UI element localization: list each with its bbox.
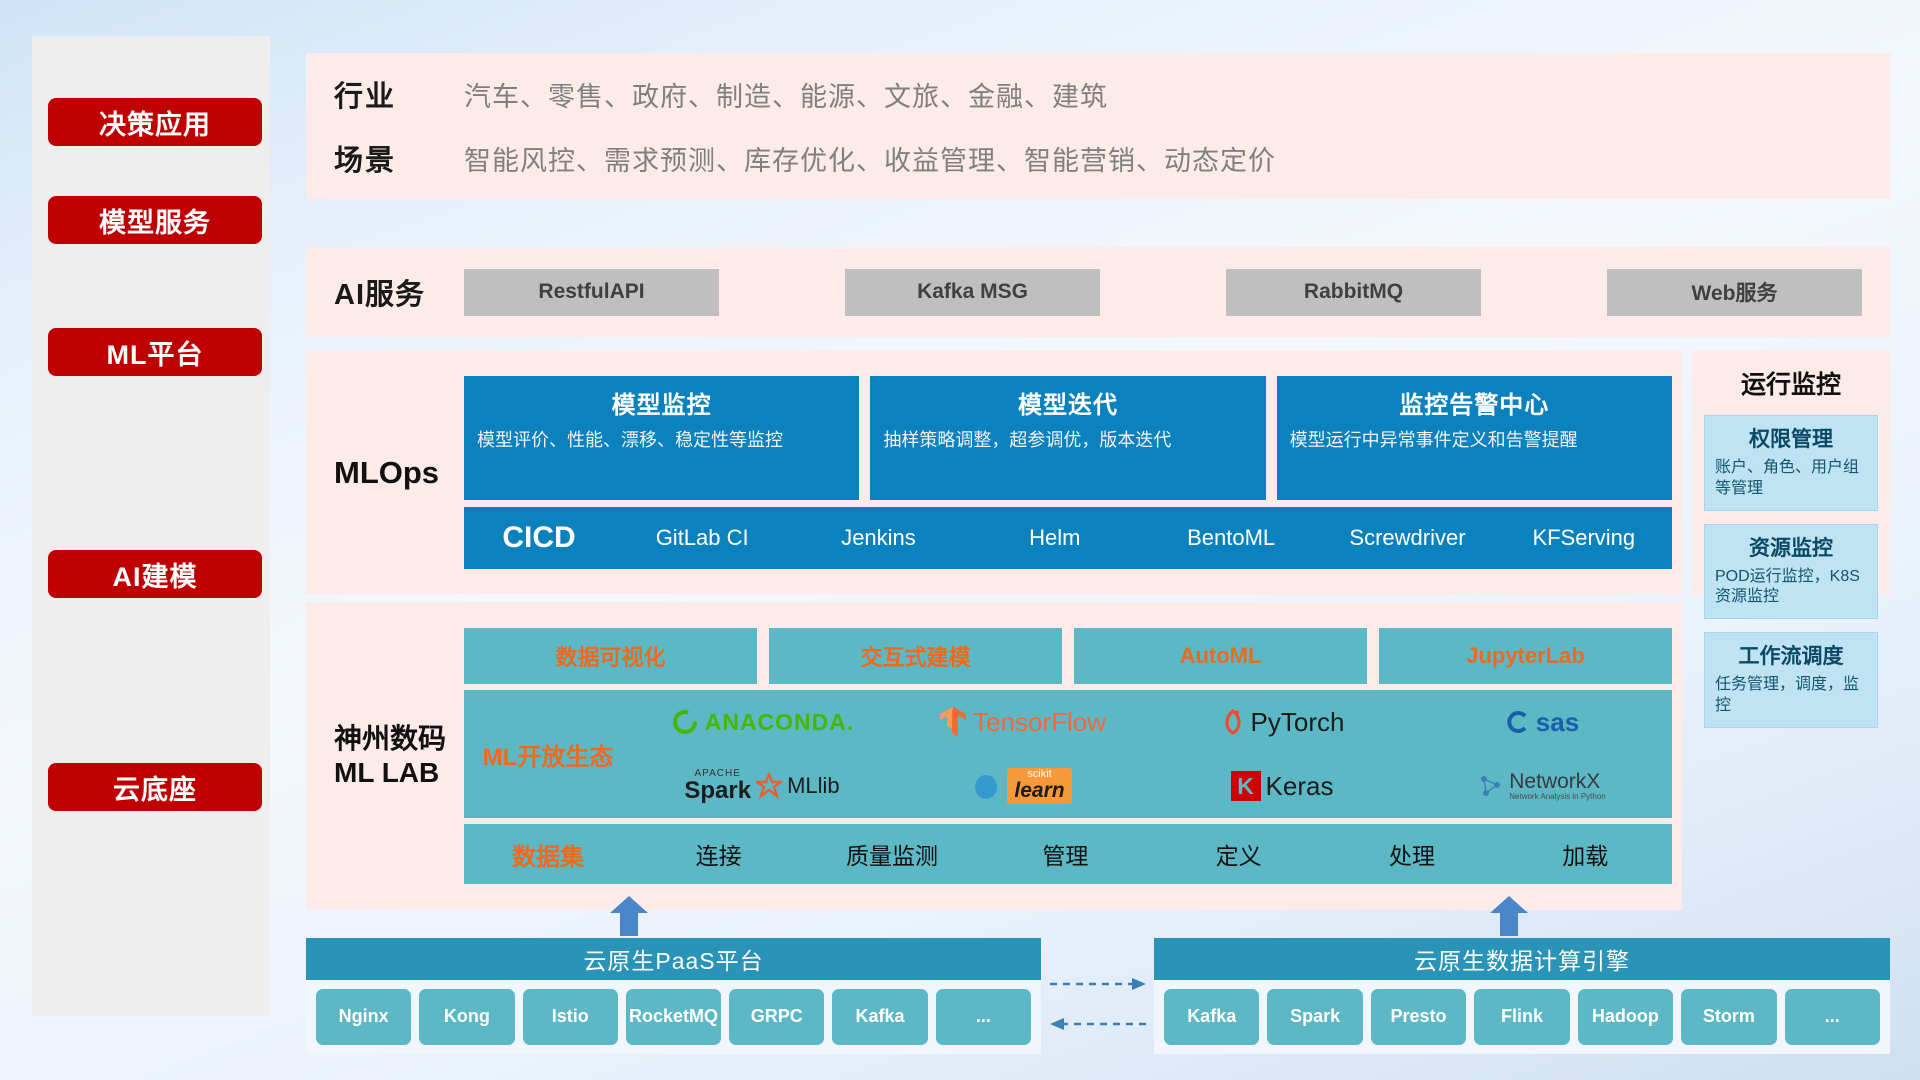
ai-service-label: AI服务: [334, 271, 464, 313]
data-chip-spark[interactable]: Spark: [1267, 989, 1362, 1045]
ai-service-chip-restfulapi[interactable]: RestfulAPI: [464, 269, 719, 316]
lab-tab-jupyterlab[interactable]: JupyterLab: [1379, 628, 1672, 684]
run-monitor-title: 运行监控: [1704, 365, 1878, 401]
chip-label: RabbitMQ: [1304, 280, 1403, 304]
dataset-item-quality[interactable]: 质量监测: [805, 837, 978, 871]
card-desc: 抽样策略调整，超参调优，版本迭代: [883, 429, 1252, 453]
ml-platform-band: MLOps 模型监控 模型评价、性能、漂移、稳定性等监控 模型迭代 抽样策略调整…: [306, 351, 1890, 594]
card-desc: 模型运行中异常事件定义和告警提醒: [1290, 429, 1659, 453]
chip-label: RestfulAPI: [538, 280, 644, 304]
scenario-label: 场景: [334, 137, 464, 179]
paas-chip-istio[interactable]: Istio: [523, 989, 618, 1045]
data-chip-flink[interactable]: Flink: [1474, 989, 1569, 1045]
dataset-item-define[interactable]: 定义: [1152, 837, 1325, 871]
lab-right-spacer: [1692, 602, 1890, 910]
paas-chip-nginx[interactable]: Nginx: [316, 989, 411, 1045]
keras-text: Keras: [1266, 771, 1334, 802]
lab-tab-automl[interactable]: AutoML: [1074, 628, 1367, 684]
mlops-label: MLOps: [334, 455, 464, 491]
anaconda-text: ANACONDA.: [705, 709, 855, 736]
card-title: 模型监控: [477, 385, 846, 420]
ml-lab-label: 神州数码 ML LAB: [334, 722, 464, 790]
cicd-item-bentoml[interactable]: BentoML: [1143, 526, 1319, 549]
scikit-blue-mark: [972, 773, 1002, 799]
mlops-card-model-monitoring[interactable]: 模型监控 模型评价、性能、漂移、稳定性等监控: [464, 376, 859, 500]
ai-modeling-band: 神州数码 ML LAB 数据可视化 交互式建模 AutoML JupyterLa…: [306, 602, 1890, 910]
paas-chip-more[interactable]: ...: [936, 989, 1031, 1045]
rail-item-ai-modeling[interactable]: AI建模: [48, 550, 262, 598]
spark-star-mark: [756, 773, 782, 799]
rail-item-ml-platform[interactable]: ML平台: [48, 328, 262, 376]
keras-k-text: K: [1237, 773, 1254, 800]
card-title: 模型迭代: [883, 385, 1252, 420]
networkx-mark: [1478, 773, 1504, 799]
lab-tab-data-visualization[interactable]: 数据可视化: [464, 628, 757, 684]
ai-service-band: AI服务 RestfulAPI Kafka MSG RabbitMQ Web服务: [306, 247, 1890, 337]
scenario-row: 场景 智能风控、需求预测、库存优化、收益管理、智能营销、动态定价: [334, 137, 1890, 179]
ai-service-chip-kafka-msg[interactable]: Kafka MSG: [845, 269, 1100, 316]
sas-mark: [1505, 709, 1531, 735]
keras-mark: K: [1231, 771, 1261, 801]
tensorflow-logo: TensorFlow: [938, 706, 1106, 739]
industry-values: 汽车、零售、政府、制造、能源、文旅、金融、建筑: [464, 75, 1108, 114]
networkx-subtitle: Network Analysis in Python: [1509, 793, 1606, 801]
chip-label: Kafka MSG: [917, 280, 1028, 304]
paas-chip-rocketmq[interactable]: RocketMQ: [626, 989, 721, 1045]
card-desc: 模型评价、性能、漂移、稳定性等监控: [477, 429, 846, 453]
ml-ecosystem-label: ML开放生态: [464, 737, 632, 772]
data-chip-presto[interactable]: Presto: [1371, 989, 1466, 1045]
pytorch-logo: PyTorch: [1220, 707, 1345, 738]
tensorflow-mark: [938, 706, 968, 739]
paas-chip-kafka[interactable]: Kafka: [832, 989, 927, 1045]
lab-tab-interactive-modeling[interactable]: 交互式建模: [769, 628, 1062, 684]
data-chip-more[interactable]: ...: [1785, 989, 1880, 1045]
data-chip-storm[interactable]: Storm: [1681, 989, 1776, 1045]
dataset-item-connect[interactable]: 连接: [632, 837, 805, 871]
ml-ecosystem-row: ML开放生态 ANACONDA.: [464, 690, 1672, 818]
data-chip-hadoop[interactable]: Hadoop: [1578, 989, 1673, 1045]
ai-service-chip-rabbitmq[interactable]: RabbitMQ: [1226, 269, 1481, 316]
scenario-values: 智能风控、需求预测、库存优化、收益管理、智能营销、动态定价: [464, 139, 1276, 178]
rail-label: ML平台: [107, 333, 204, 372]
decision-applications-band: 行业 汽车、零售、政府、制造、能源、文旅、金融、建筑 场景 智能风控、需求预测、…: [306, 53, 1890, 199]
up-arrow-icon-data: [1486, 896, 1532, 936]
rail-label: 模型服务: [99, 201, 211, 240]
paas-chip-grpc[interactable]: GRPC: [729, 989, 824, 1045]
paas-chip-kong[interactable]: Kong: [419, 989, 514, 1045]
cloud-data-title: 云原生数据计算引擎: [1154, 938, 1890, 980]
bidirectional-link-arrows: [1048, 968, 1148, 1040]
networkx-logo: NetworkX Network Analysis in Python: [1478, 771, 1606, 801]
rail-item-cloud-base[interactable]: 云底座: [48, 763, 262, 811]
pytorch-text: PyTorch: [1251, 707, 1345, 738]
sas-logo: sas: [1505, 707, 1579, 738]
dataset-label: 数据集: [464, 837, 632, 872]
learn-text: learn: [1014, 780, 1064, 801]
anaconda-logo: ANACONDA.: [670, 707, 855, 737]
dataset-item-load[interactable]: 加载: [1499, 837, 1672, 871]
cicd-item-kfserving[interactable]: KFServing: [1496, 526, 1672, 549]
industry-row: 行业 汽车、零售、政府、制造、能源、文旅、金融、建筑: [334, 73, 1890, 115]
up-arrow-icon-paas: [606, 896, 652, 936]
dataset-item-process[interactable]: 处理: [1325, 837, 1498, 871]
ml-lab-label-line1: 神州数码: [334, 722, 464, 756]
rail-item-decision-apps[interactable]: 决策应用: [48, 98, 262, 146]
cloud-base-band: 云原生PaaS平台 Nginx Kong Istio RocketMQ GRPC…: [306, 920, 1890, 1070]
rail-label: 决策应用: [99, 103, 211, 142]
networkx-text: NetworkX: [1509, 771, 1606, 793]
rail-item-model-service[interactable]: 模型服务: [48, 196, 262, 244]
monitor-card-permission[interactable]: 权限管理 账户、角色、用户组等管理: [1704, 415, 1878, 511]
dataset-row: 数据集 连接 质量监测 管理 定义 处理 加载: [464, 824, 1672, 884]
spark-text: Spark: [684, 779, 751, 803]
ml-lab-section: 神州数码 ML LAB 数据可视化 交互式建模 AutoML JupyterLa…: [306, 602, 1682, 910]
cicd-item-screwdriver[interactable]: Screwdriver: [1319, 526, 1495, 549]
card-desc: 账户、角色、用户组等管理: [1715, 458, 1867, 500]
chip-label: Web服务: [1692, 277, 1778, 307]
tensorflow-text: TensorFlow: [973, 707, 1106, 738]
layer-rail: 决策应用 模型服务 ML平台 AI建模 云底座: [32, 36, 270, 1016]
card-title: 资源监控: [1715, 532, 1867, 562]
cicd-item-helm[interactable]: Helm: [967, 526, 1143, 549]
anaconda-mark: [670, 707, 700, 737]
cloud-paas-group: 云原生PaaS平台 Nginx Kong Istio RocketMQ GRPC…: [306, 938, 1041, 1054]
ai-service-chip-web-service[interactable]: Web服务: [1607, 269, 1862, 316]
spark-mllib-logo: APACHE Spark MLlib: [684, 769, 839, 803]
ml-lab-label-line2: ML LAB: [334, 756, 464, 790]
cicd-item-jenkins[interactable]: Jenkins: [790, 526, 966, 549]
card-title: 权限管理: [1715, 423, 1867, 453]
cicd-bar: CICD GitLab CI Jenkins Helm BentoML Scre…: [464, 507, 1672, 569]
dataset-item-manage[interactable]: 管理: [979, 837, 1152, 871]
cloud-paas-title: 云原生PaaS平台: [306, 938, 1041, 980]
industry-label: 行业: [334, 73, 464, 115]
card-title: 监控告警中心: [1290, 385, 1659, 420]
scikit-learn-logo: scikit learn: [972, 768, 1071, 804]
cicd-label: CICD: [464, 521, 614, 555]
mllib-text: MLlib: [787, 773, 840, 799]
mlops-card-model-iteration[interactable]: 模型迭代 抽样策略调整，超参调优，版本迭代: [870, 376, 1265, 500]
cloud-data-engine-group: 云原生数据计算引擎 Kafka Spark Presto Flink Hadoo…: [1154, 938, 1890, 1054]
rail-label: AI建模: [113, 555, 198, 594]
cicd-item-gitlab-ci[interactable]: GitLab CI: [614, 526, 790, 549]
architecture-diagram: 决策应用 模型服务 ML平台 AI建模 云底座 行业 汽车、零售、政府、制造、能…: [0, 0, 1920, 1080]
run-monitor-section: 运行监控 权限管理 账户、角色、用户组等管理 资源监控 POD运行监控，K8S资…: [1692, 351, 1890, 594]
mlops-card-alert-center[interactable]: 监控告警中心 模型运行中异常事件定义和告警提醒: [1277, 376, 1672, 500]
pytorch-mark: [1220, 707, 1246, 737]
mlops-section: MLOps 模型监控 模型评价、性能、漂移、稳定性等监控 模型迭代 抽样策略调整…: [306, 351, 1682, 594]
keras-logo: K Keras: [1231, 771, 1334, 802]
sas-text: sas: [1536, 707, 1579, 738]
rail-label: 云底座: [113, 768, 197, 807]
data-chip-kafka[interactable]: Kafka: [1164, 989, 1259, 1045]
